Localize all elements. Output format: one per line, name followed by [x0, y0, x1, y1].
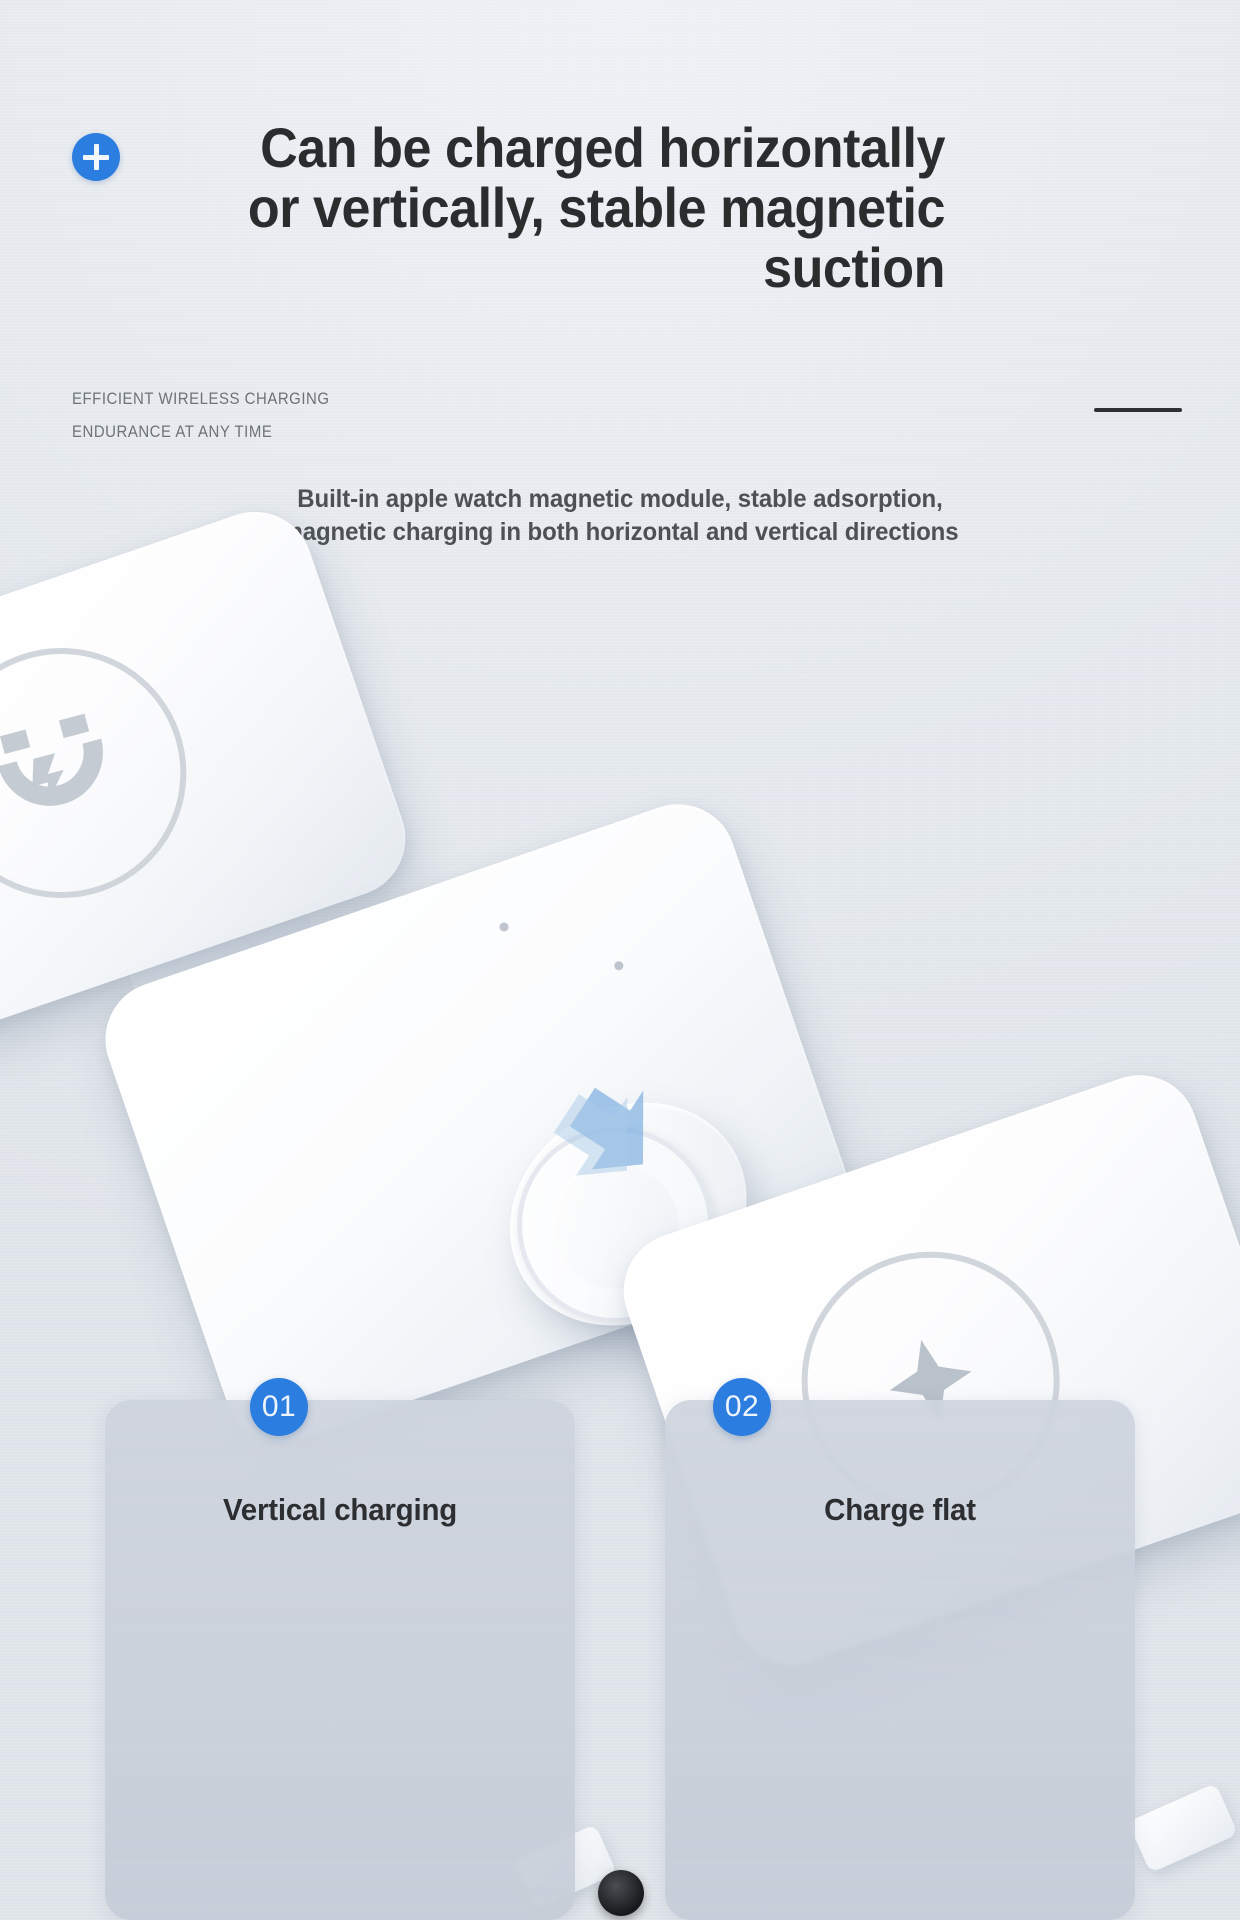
- feature-cards: 01 Vertical charging 02 Charge flat: [0, 1370, 1240, 1920]
- header-section: Can be charged horizontally or verticall…: [0, 0, 1240, 330]
- headline-line-2: or vertically, stable magnetic: [248, 176, 945, 239]
- description-line-1: Built-in apple watch magnetic module, st…: [297, 485, 942, 513]
- plus-circle-icon: [72, 133, 120, 181]
- card-label: Charge flat: [677, 1492, 1124, 1528]
- card-number-badge: 02: [713, 1378, 771, 1436]
- eyebrow-line-1: EFFICIENT WIRELESS CHARGING: [72, 389, 330, 408]
- feature-card-vertical[interactable]: 01 Vertical charging: [105, 1400, 575, 1920]
- power-port-icon: [598, 1870, 644, 1916]
- indicator-dot-1: [498, 921, 509, 932]
- headline-line-3: suction: [763, 236, 945, 299]
- eyebrow-text: EFFICIENT WIRELESS CHARGING ENDURANCE AT…: [72, 382, 330, 448]
- description-line-2: magnetic charging in both horizontal and…: [281, 518, 958, 546]
- divider-rule: [1094, 408, 1182, 412]
- headline-line-1: Can be charged horizontally: [260, 116, 945, 179]
- product-feature-page: Can be charged horizontally or verticall…: [0, 0, 1240, 1920]
- page-title: Can be charged horizontally or verticall…: [196, 118, 945, 298]
- card-number-badge: 01: [250, 1378, 308, 1436]
- feature-card-flat[interactable]: 02 Charge flat: [665, 1400, 1135, 1920]
- eyebrow-line-2: ENDURANCE AT ANY TIME: [72, 422, 272, 441]
- plug-prong-right: [1128, 1783, 1238, 1873]
- indicator-dot-2: [613, 960, 624, 971]
- card-label: Vertical charging: [117, 1492, 564, 1528]
